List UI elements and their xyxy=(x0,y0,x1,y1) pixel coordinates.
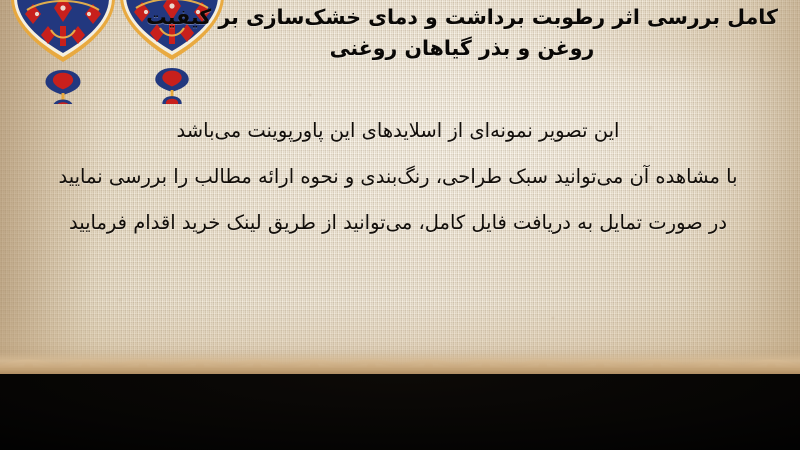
slide-body: این تصویر نمونه‌ای از اسلایدهای این پاور… xyxy=(8,108,788,245)
body-line-1: این تصویر نمونه‌ای از اسلایدهای این پاور… xyxy=(8,108,788,154)
title-line-1: کامل بررسی اثر رطوبت برداشت و دمای خشک‌س… xyxy=(142,2,782,33)
carpet-selvedge-edge xyxy=(0,352,800,374)
carpet-fringe xyxy=(0,352,800,450)
black-background-field xyxy=(0,368,800,450)
slide-canvas: کامل بررسی اثر رطوبت برداشت و دمای خشک‌س… xyxy=(0,0,800,450)
title-line-2: روغن و بذر گیاهان روغنی xyxy=(142,33,782,64)
body-line-3: در صورت تمایل به دریافت فایل کامل، می‌تو… xyxy=(8,200,788,246)
slide-title: کامل بررسی اثر رطوبت برداشت و دمای خشک‌س… xyxy=(142,2,782,64)
body-line-2: با مشاهده آن می‌توانید سبک طراحی، رنگ‌بن… xyxy=(8,154,788,200)
